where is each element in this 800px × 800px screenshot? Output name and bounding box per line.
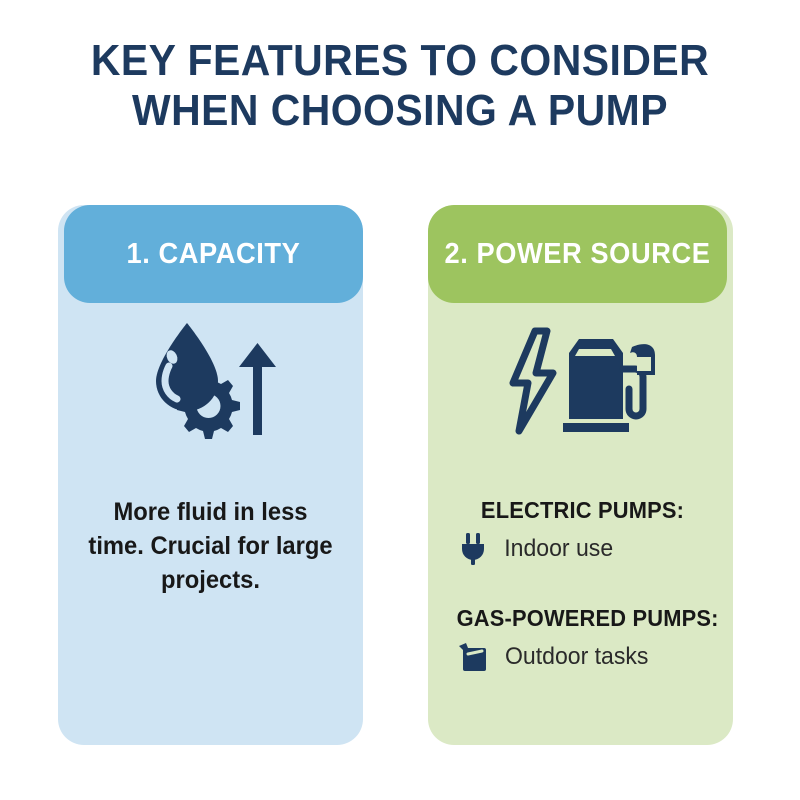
power-group-row: Indoor use bbox=[450, 532, 715, 566]
card-header-power-source: 2. POWER SOURCE bbox=[428, 205, 727, 303]
page-title: KEY FEATURES TO CONSIDER WHEN CHOOSING A… bbox=[0, 36, 800, 136]
card-header-capacity: 1. CAPACITY bbox=[64, 205, 363, 303]
power-group-electric: ELECTRIC PUMPS: Indoor use bbox=[450, 497, 715, 566]
feature-card-power-source: 2. POWER SOURCE bbox=[428, 205, 733, 745]
power-group-label: Outdoor tasks bbox=[505, 643, 648, 671]
water-drop-gear-arrow-icon bbox=[58, 317, 363, 447]
feature-cards: 1. CAPACITY bbox=[0, 205, 800, 750]
card-header-label: 1. CAPACITY bbox=[127, 238, 301, 271]
power-group-heading: ELECTRIC PUMPS: bbox=[457, 497, 709, 524]
infographic-poster: KEY FEATURES TO CONSIDER WHEN CHOOSING A… bbox=[0, 0, 800, 800]
power-group-row: Outdoor tasks bbox=[450, 640, 715, 674]
power-group-heading: GAS-POWERED PUMPS: bbox=[457, 605, 709, 632]
power-group-gas: GAS-POWERED PUMPS: Outdoor tasks bbox=[450, 605, 715, 674]
title-line-2: WHEN CHOOSING A PUMP bbox=[28, 86, 772, 136]
card-header-label: 2. POWER SOURCE bbox=[445, 238, 711, 271]
power-plug-icon bbox=[458, 532, 488, 566]
jerry-can-icon bbox=[458, 640, 488, 674]
lightning-fuel-pump-icon bbox=[428, 317, 733, 447]
capacity-description: More fluid in less time. Crucial for lar… bbox=[83, 495, 339, 597]
title-line-1: KEY FEATURES TO CONSIDER bbox=[28, 36, 772, 86]
feature-card-capacity: 1. CAPACITY bbox=[58, 205, 363, 745]
power-group-label: Indoor use bbox=[504, 535, 613, 563]
